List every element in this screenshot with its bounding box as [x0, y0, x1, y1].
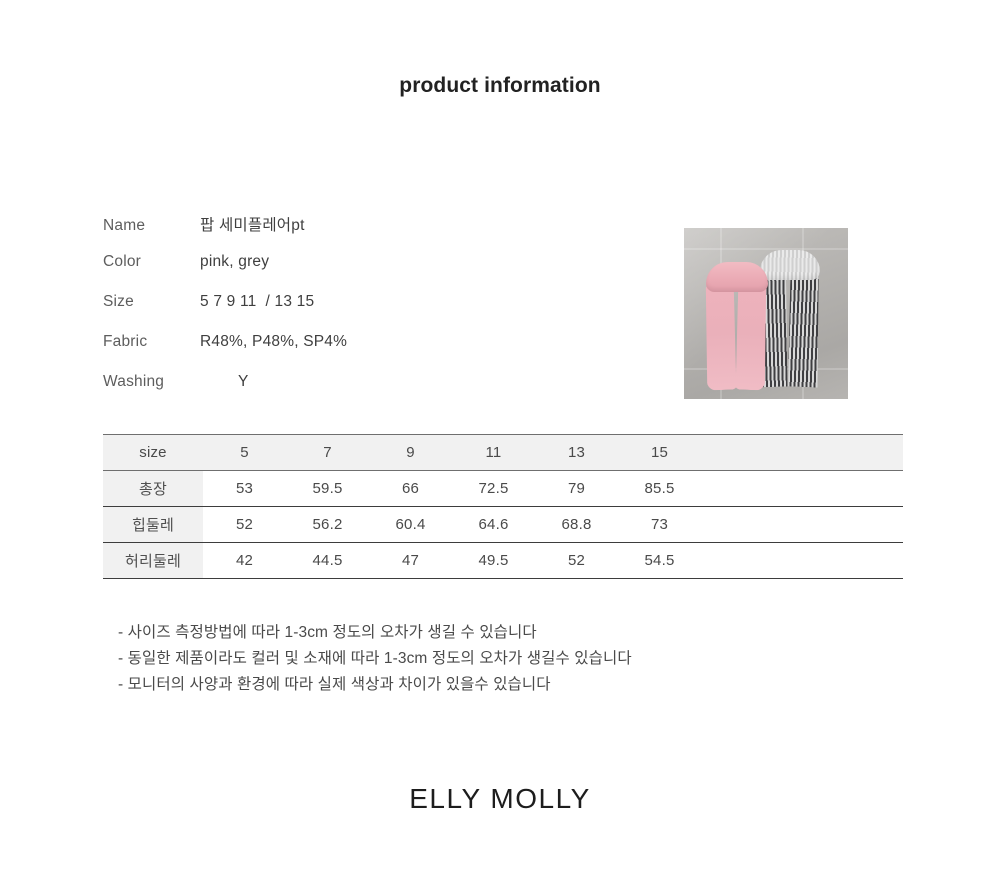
cell-total-length-spacer [701, 471, 903, 507]
size-table-head: size 5 7 9 11 13 15 [103, 435, 903, 471]
pink-pants-waistband [706, 262, 768, 292]
product-photo [684, 228, 848, 399]
note-line-monitor: - 모니터의 사양과 환경에 따라 실제 색상과 차이가 있을수 있습니다 [118, 672, 878, 698]
spec-value-color: pink, grey [200, 253, 269, 271]
spec-value-fabric: R48%, P48%, SP4% [200, 333, 347, 351]
spec-label-fabric: Fabric [103, 333, 200, 351]
cell-waist-7: 44.5 [286, 543, 369, 579]
table-row: 힙둘레 52 56.2 60.4 64.6 68.8 73 [103, 507, 903, 543]
spec-label-size: Size [103, 293, 200, 311]
cell-total-length-5: 53 [203, 471, 286, 507]
cell-waist-11: 49.5 [452, 543, 535, 579]
size-header-9: 9 [369, 435, 452, 471]
size-table-body: 총장 53 59.5 66 72.5 79 85.5 힙둘레 52 56.2 6… [103, 471, 903, 579]
spec-row-washing: Washing Y [103, 373, 523, 413]
cell-total-length-13: 79 [535, 471, 618, 507]
size-header-11: 11 [452, 435, 535, 471]
page-title: product information [0, 74, 1000, 98]
spec-row-fabric: Fabric R48%, P48%, SP4% [103, 333, 523, 373]
spec-row-size: Size 5 7 9 11 / 13 15 [103, 293, 523, 333]
size-header-5: 5 [203, 435, 286, 471]
pink-pants [702, 262, 774, 390]
cell-waist-13: 52 [535, 543, 618, 579]
cell-total-length-7: 59.5 [286, 471, 369, 507]
cell-waist-15: 54.5 [618, 543, 701, 579]
size-header-label: size [103, 435, 203, 471]
brand-logo-text: ELLY MOLLY [0, 783, 1000, 815]
pink-pants-right-leg [734, 285, 770, 390]
row-label-total-length: 총장 [103, 471, 203, 507]
cell-hip-7: 56.2 [286, 507, 369, 543]
table-row: 총장 53 59.5 66 72.5 79 85.5 [103, 471, 903, 507]
spec-label-color: Color [103, 253, 200, 271]
cell-hip-13: 68.8 [535, 507, 618, 543]
cell-hip-5: 52 [203, 507, 286, 543]
row-label-hip: 힙둘레 [103, 507, 203, 543]
row-label-waist: 허리둘레 [103, 543, 203, 579]
cell-hip-11: 64.6 [452, 507, 535, 543]
cell-hip-9: 60.4 [369, 507, 452, 543]
product-spec-list: Name 팝 세미플레어pt Color pink, grey Size 5 7… [103, 213, 523, 413]
size-header-spacer [701, 435, 903, 471]
spec-value-washing: Y [200, 373, 249, 391]
table-row: 허리둘레 42 44.5 47 49.5 52 54.5 [103, 543, 903, 579]
size-header-15: 15 [618, 435, 701, 471]
cell-total-length-11: 72.5 [452, 471, 535, 507]
grey-pants-right-leg [786, 273, 823, 387]
pink-pants-left-leg [703, 285, 739, 390]
cell-hip-spacer [701, 507, 903, 543]
cell-waist-spacer [701, 543, 903, 579]
size-header-7: 7 [286, 435, 369, 471]
note-line-measurement: - 사이즈 측정방법에 따라 1-3cm 정도의 오차가 생길 수 있습니다 [118, 620, 878, 646]
cell-total-length-9: 66 [369, 471, 452, 507]
cell-waist-9: 47 [369, 543, 452, 579]
size-table-container: size 5 7 9 11 13 15 총장 53 59.5 66 72.5 7… [103, 434, 903, 579]
spec-row-color: Color pink, grey [103, 253, 523, 293]
cell-waist-5: 42 [203, 543, 286, 579]
spec-label-name: Name [103, 217, 200, 235]
cell-total-length-15: 85.5 [618, 471, 701, 507]
size-header-13: 13 [535, 435, 618, 471]
spec-value-name: 팝 세미플레어pt [200, 213, 305, 235]
size-table: size 5 7 9 11 13 15 총장 53 59.5 66 72.5 7… [103, 434, 903, 579]
spec-value-size: 5 7 9 11 / 13 15 [200, 293, 314, 311]
size-table-header-row: size 5 7 9 11 13 15 [103, 435, 903, 471]
spec-label-washing: Washing [103, 373, 200, 391]
spec-row-name: Name 팝 세미플레어pt [103, 213, 523, 253]
cell-hip-15: 73 [618, 507, 701, 543]
disclaimer-notes: - 사이즈 측정방법에 따라 1-3cm 정도의 오차가 생길 수 있습니다 -… [118, 620, 878, 698]
note-line-material: - 동일한 제품이라도 컬러 및 소재에 따라 1-3cm 정도의 오차가 생길… [118, 646, 878, 672]
